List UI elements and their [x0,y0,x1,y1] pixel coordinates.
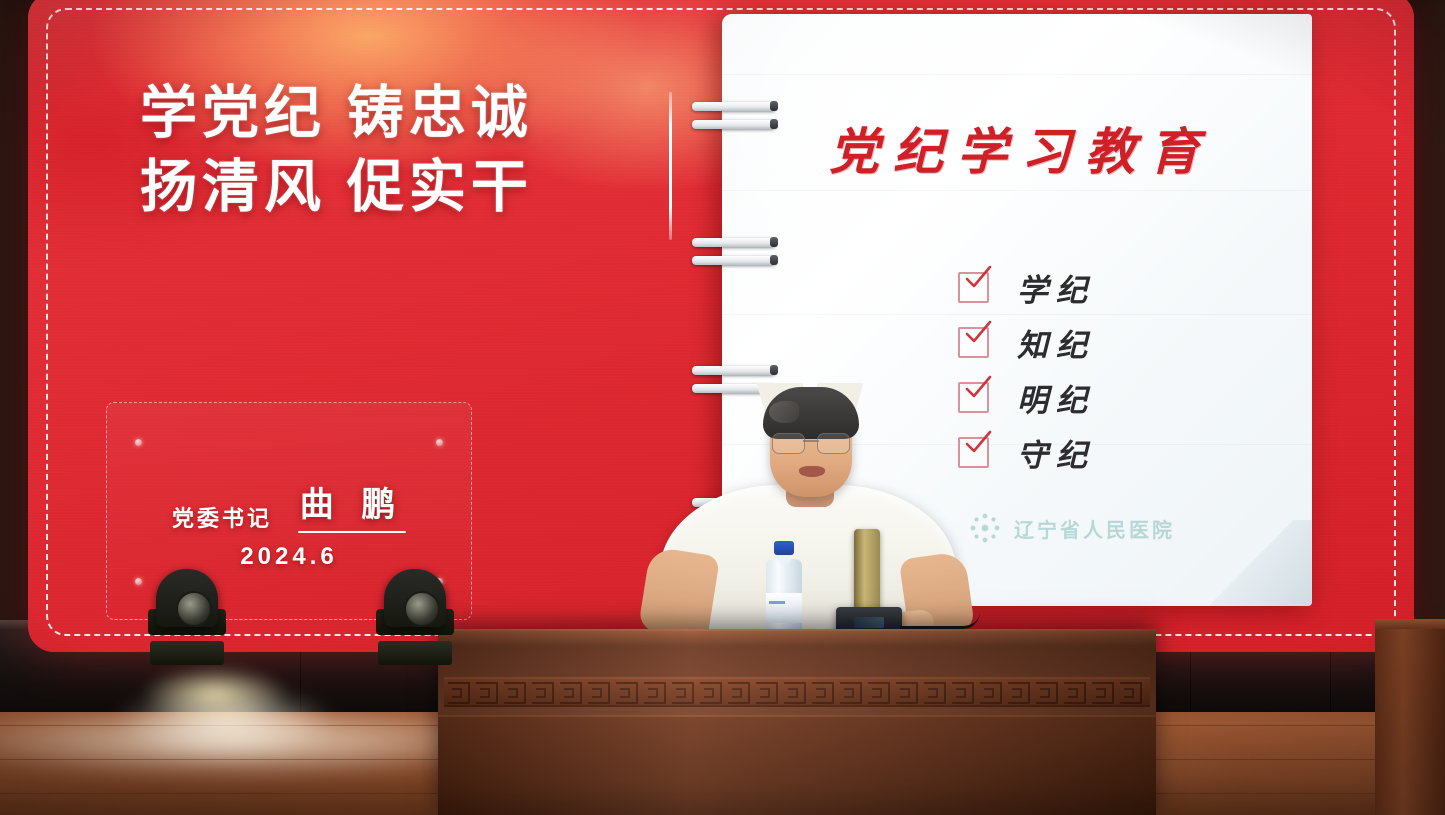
microphone-cable [900,612,980,629]
checklist-label: 明纪 [1017,375,1095,420]
checkbox-checked-icon [958,327,989,358]
checklist-item: 知纪 [958,315,1095,370]
checklist-label: 知纪 [1017,320,1095,365]
checklist-item: 明纪 [958,370,1095,425]
speaker-person [660,373,956,635]
checklist-item: 守纪 [958,425,1095,480]
hospital-name: 辽宁省人民医院 [1014,514,1175,543]
checklist-label: 守纪 [1017,430,1095,475]
water-bottle-icon [766,541,802,633]
slogan-line-1: 学党纪 铸忠诚 [140,76,650,150]
spiral-binding-ring-icon [678,96,798,140]
eyeglasses-icon [772,433,850,453]
checklist-item: 学纪 [958,260,1095,315]
light-beam [140,665,290,723]
plate-screw-icon [436,439,443,446]
slogan-block: 学党纪 铸忠诚 扬清风 促实干 [140,76,650,224]
left-arm [638,546,720,640]
notebook-checklist: 学纪 知纪 明纪 守纪 [958,260,1095,480]
conference-stage-photo: 学党纪 铸忠诚 扬清风 促实干 党委书记 曲 鹏 2024.6 [0,0,1445,815]
speaker-name: 曲 鹏 [300,477,404,526]
checkbox-checked-icon [958,437,989,468]
moving-head-light-icon [148,569,226,665]
presentation-date: 2024.6 [107,543,471,571]
mouth [799,466,825,477]
plate-screw-icon [135,439,142,446]
speaker-podium [438,629,1156,815]
moving-head-light-icon [376,569,454,665]
plate-screw-icon [135,578,142,585]
hospital-logo: 辽宁省人民医院 [968,511,1175,545]
checkbox-checked-icon [958,382,989,413]
checklist-label: 学纪 [1017,265,1095,310]
spiral-binding-ring-icon [678,232,798,276]
speaker-role: 党委书记 [172,501,272,533]
side-furniture [1375,619,1445,815]
slogan-line-2: 扬清风 促实干 [140,150,650,224]
slogan-divider [669,92,672,240]
hospital-logo-icon [968,511,1002,545]
hair [763,387,859,439]
notebook-title: 党纪学习教育 [766,112,1276,184]
name-underline [298,531,406,533]
checkbox-checked-icon [958,272,989,303]
page-curl-corner [1200,520,1312,606]
desk-microphone-icon [836,529,902,637]
